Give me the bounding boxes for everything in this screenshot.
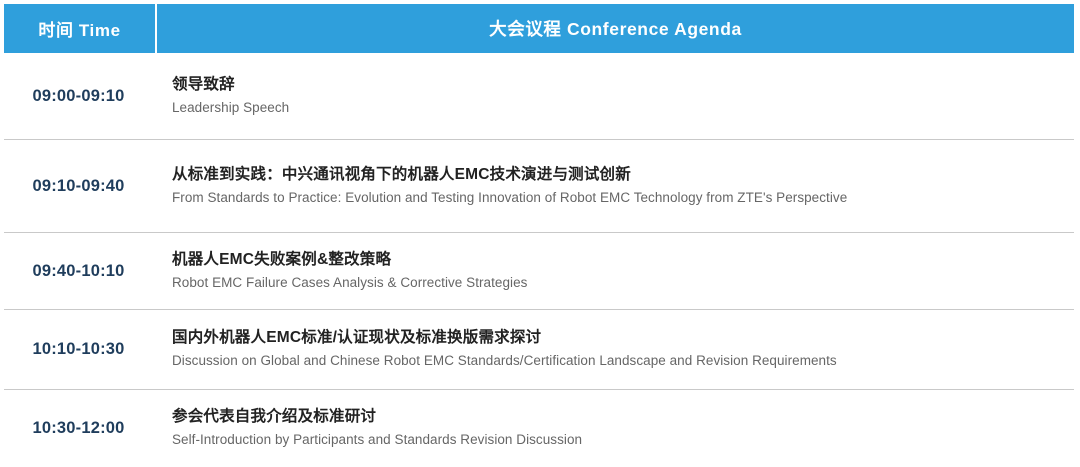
- row-time-cell: 10:30-12:00: [4, 419, 157, 438]
- row-agenda-cell: 领导致辞 Leadership Speech: [157, 75, 1074, 117]
- row-agenda-cell: 参会代表自我介绍及标准研讨 Self-Introduction by Parti…: [157, 407, 1074, 449]
- session-title-cn: 机器人EMC失败案例&整改策略: [172, 250, 1062, 271]
- table-row: 10:30-12:00 参会代表自我介绍及标准研讨 Self-Introduct…: [4, 390, 1074, 467]
- row-time-cell: 09:40-10:10: [4, 262, 157, 281]
- table-row: 09:40-10:10 机器人EMC失败案例&整改策略 Robot EMC Fa…: [4, 233, 1074, 310]
- session-title-cn: 从标准到实践：中兴通讯视角下的机器人EMC技术演进与测试创新: [172, 165, 1062, 186]
- session-time: 10:30-12:00: [32, 419, 124, 438]
- session-title-cn: 领导致辞: [172, 75, 1062, 96]
- table-row: 10:10-10:30 国内外机器人EMC标准/认证现状及标准换版需求探讨 Di…: [4, 310, 1074, 390]
- session-time: 09:10-09:40: [32, 177, 124, 196]
- row-time-cell: 09:10-09:40: [4, 177, 157, 196]
- session-time: 09:40-10:10: [32, 262, 124, 281]
- row-agenda-cell: 国内外机器人EMC标准/认证现状及标准换版需求探讨 Discussion on …: [157, 328, 1074, 370]
- row-agenda-cell: 从标准到实践：中兴通讯视角下的机器人EMC技术演进与测试创新 From Stan…: [157, 165, 1074, 207]
- session-title-en: Discussion on Global and Chinese Robot E…: [172, 351, 1062, 371]
- header-agenda-label: 大会议程 Conference Agenda: [489, 16, 742, 41]
- conference-agenda-table: 时间 Time 大会议程 Conference Agenda 09:00-09:…: [0, 0, 1080, 467]
- row-time-cell: 10:10-10:30: [4, 340, 157, 359]
- row-time-cell: 09:00-09:10: [4, 87, 157, 106]
- session-title-cn: 参会代表自我介绍及标准研讨: [172, 407, 1062, 428]
- session-title-en: Robot EMC Failure Cases Analysis & Corre…: [172, 273, 1062, 293]
- session-title-en: Self-Introduction by Participants and St…: [172, 430, 1062, 450]
- session-time: 09:00-09:10: [32, 87, 124, 106]
- row-agenda-cell: 机器人EMC失败案例&整改策略 Robot EMC Failure Cases …: [157, 250, 1074, 292]
- agenda-table-body: 09:00-09:10 领导致辞 Leadership Speech 09:10…: [4, 53, 1074, 467]
- session-title-cn: 国内外机器人EMC标准/认证现状及标准换版需求探讨: [172, 328, 1062, 349]
- table-row: 09:10-09:40 从标准到实践：中兴通讯视角下的机器人EMC技术演进与测试…: [4, 140, 1074, 233]
- agenda-table-header: 时间 Time 大会议程 Conference Agenda: [4, 4, 1074, 53]
- session-time: 10:10-10:30: [32, 340, 124, 359]
- session-title-en: Leadership Speech: [172, 98, 1062, 118]
- header-cell-agenda: 大会议程 Conference Agenda: [157, 4, 1074, 53]
- header-cell-time: 时间 Time: [4, 4, 157, 53]
- table-row: 09:00-09:10 领导致辞 Leadership Speech: [4, 53, 1074, 140]
- header-time-label: 时间 Time: [38, 16, 120, 41]
- session-title-en: From Standards to Practice: Evolution an…: [172, 188, 1062, 208]
